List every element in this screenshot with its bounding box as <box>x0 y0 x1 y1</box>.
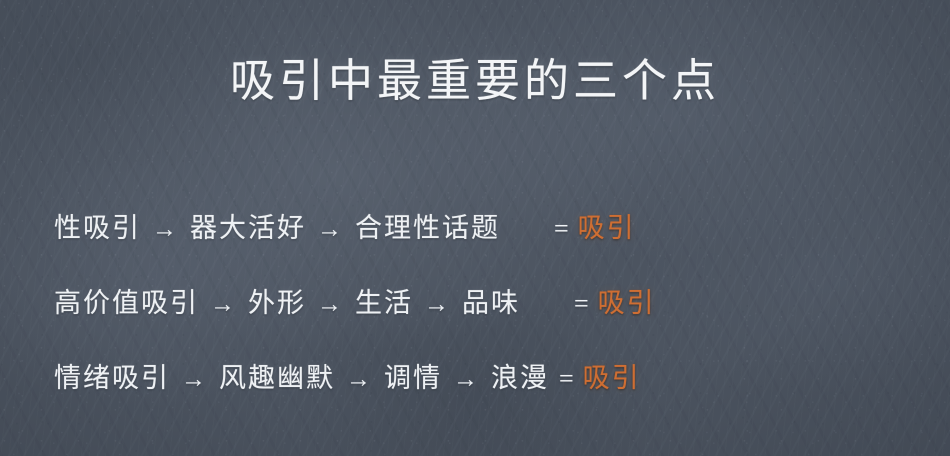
formula-term: 器大活好 <box>190 206 306 245</box>
arrow-icon: → <box>181 366 208 394</box>
equals-icon: = <box>554 214 571 244</box>
slide-title: 吸引中最重要的三个点 <box>230 56 720 106</box>
arrow-icon: → <box>346 366 373 394</box>
slide-title-container: 吸引中最重要的三个点 <box>0 26 950 137</box>
chalkboard-slide: 吸引中最重要的三个点 性吸引 → 器大活好 → 合理性话题 = 吸引 高价值吸引… <box>0 0 950 456</box>
formula-term: 浪漫 <box>491 356 549 395</box>
formula-result: 吸引 <box>578 206 636 245</box>
formula-term: 高价值吸引 <box>54 281 199 320</box>
formula-term: 合理性话题 <box>355 206 500 245</box>
arrow-icon: → <box>210 291 237 319</box>
formula-result: 吸引 <box>583 356 641 395</box>
formula-term: 调情 <box>384 356 442 395</box>
equals-icon: = <box>574 289 591 319</box>
formula-result: 吸引 <box>598 281 656 320</box>
arrow-icon: → <box>317 291 344 319</box>
arrow-icon: → <box>424 291 451 319</box>
formula-term: 生活 <box>355 281 413 320</box>
formula-row-emotional-attraction: 情绪吸引 → 风趣幽默 → 调情 → 浪漫 = 吸引 <box>54 356 896 431</box>
formula-term: 外形 <box>248 281 306 320</box>
formula-term: 性吸引 <box>54 206 141 245</box>
formula-term: 风趣幽默 <box>219 356 335 395</box>
arrow-icon: → <box>152 216 179 244</box>
arrow-icon: → <box>317 216 344 244</box>
formula-term: 品味 <box>462 281 520 320</box>
formula-list: 性吸引 → 器大活好 → 合理性话题 = 吸引 高价值吸引 → 外形 → 生活 … <box>54 206 896 431</box>
formula-term: 情绪吸引 <box>54 356 170 395</box>
formula-row-high-value-attraction: 高价值吸引 → 外形 → 生活 → 品味 = 吸引 <box>54 281 896 356</box>
equals-icon: = <box>559 364 576 394</box>
arrow-icon: → <box>453 366 480 394</box>
formula-row-sexual-attraction: 性吸引 → 器大活好 → 合理性话题 = 吸引 <box>54 206 896 281</box>
